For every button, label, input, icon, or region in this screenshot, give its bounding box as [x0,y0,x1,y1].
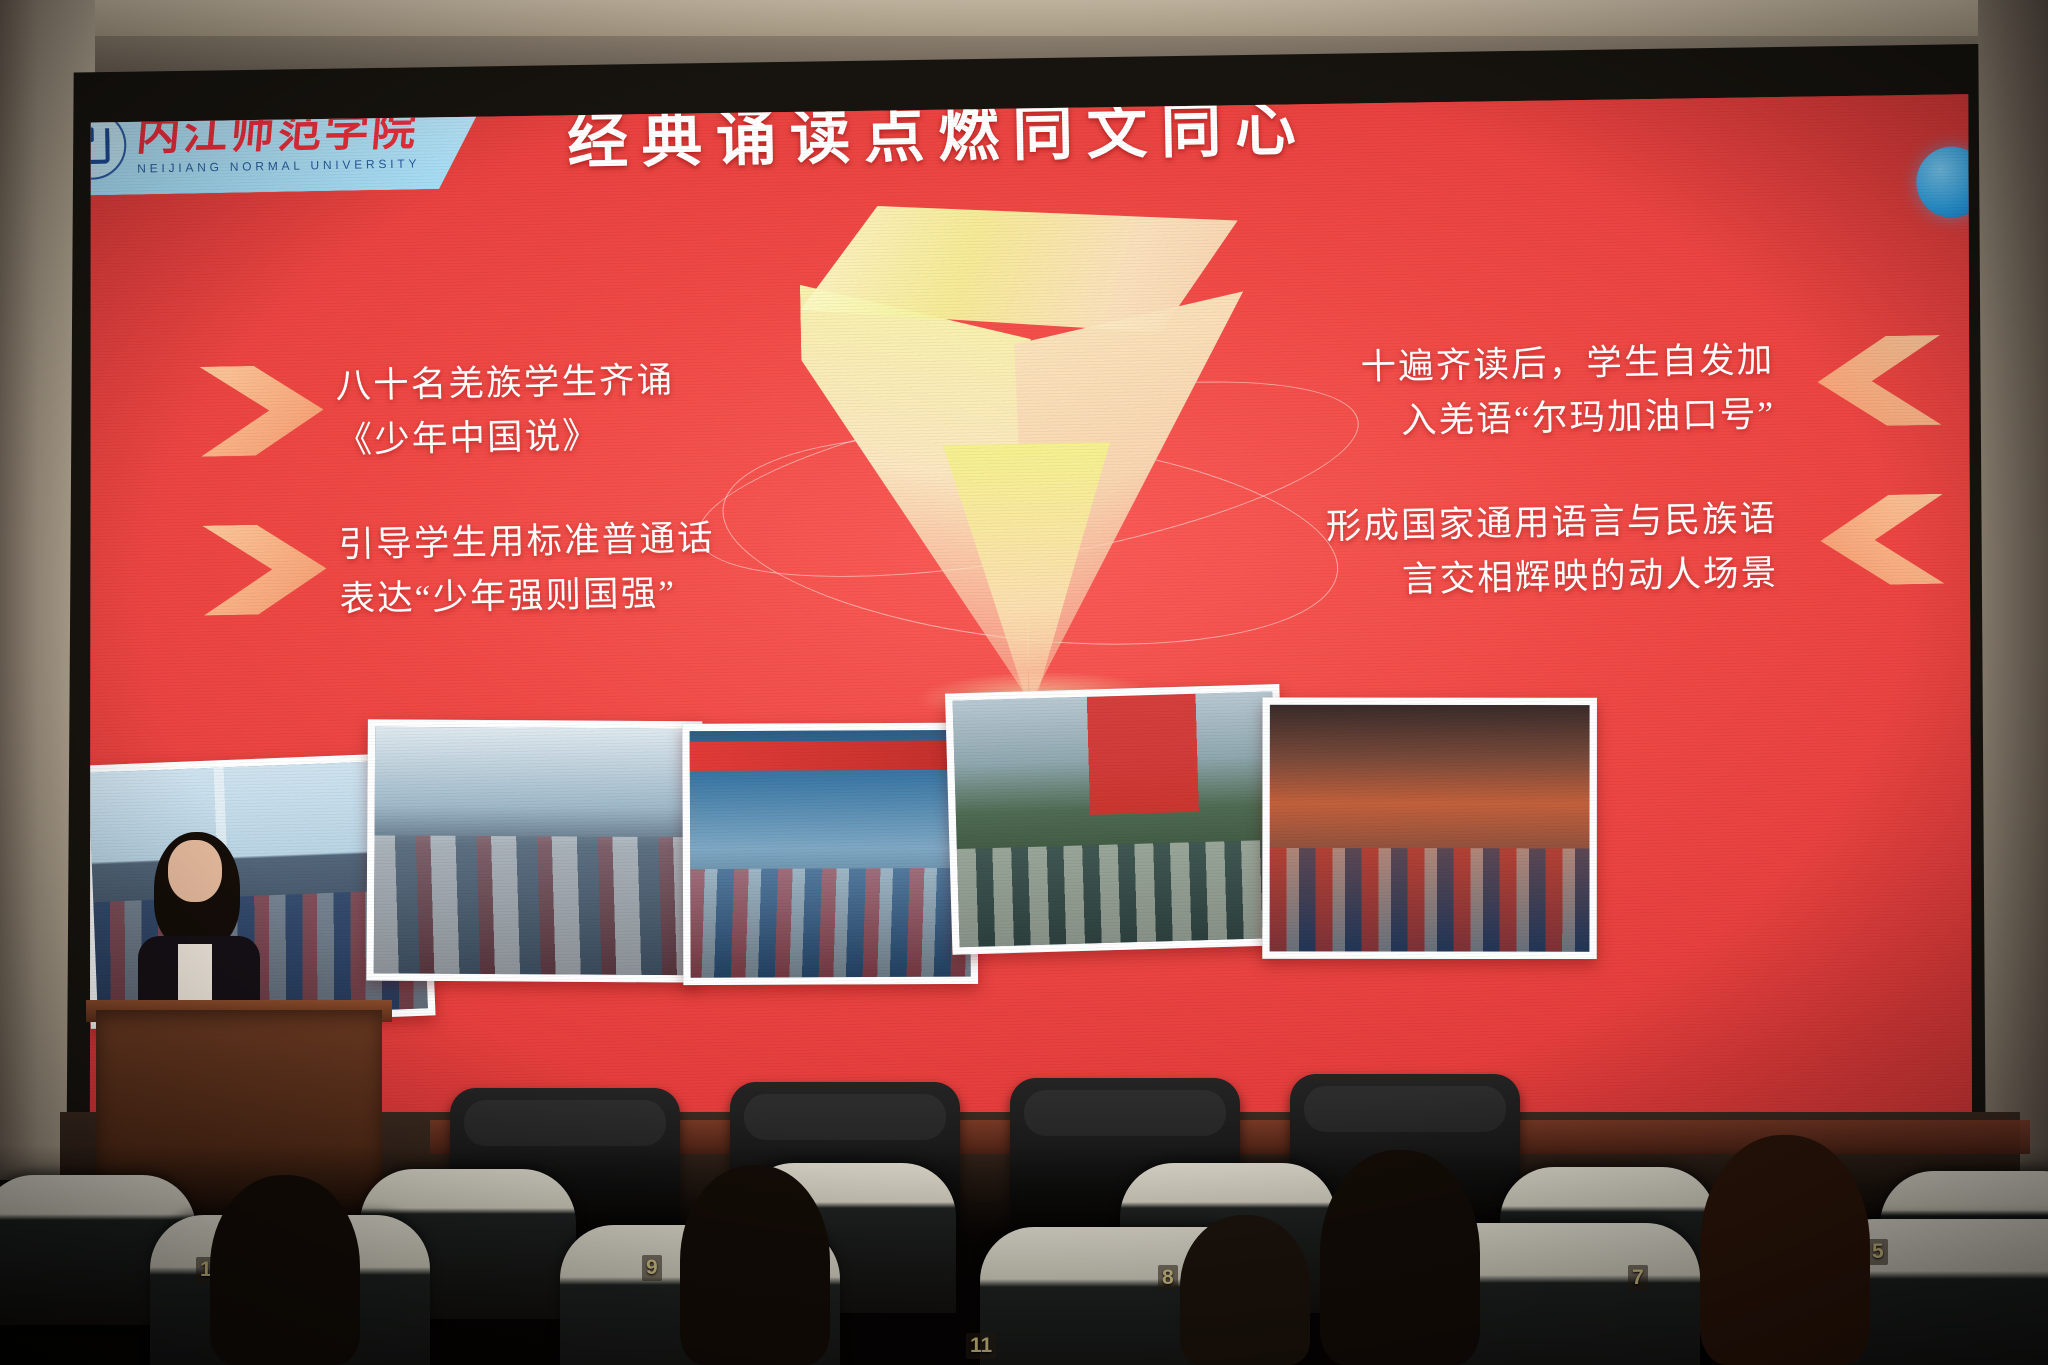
chevron-right-icon [202,523,327,615]
audience-head [210,1175,360,1365]
audience-head [1320,1150,1480,1365]
photo-detail [957,839,1279,947]
wall-right [1978,0,2048,1180]
slide-text-line: 言交相辉映的动人场景 [1326,547,1778,609]
blue-orb-icon [1916,146,1972,218]
slide-text-line: 引导学生用标准普通话 [338,512,715,573]
photo-detail [690,868,971,978]
seat-number: 5 [1868,1239,1888,1265]
slide-text-block-bottom-left: 引导学生用标准普通话 表达“少年强则国强” [338,512,716,627]
slide-text-block-top-right: 十遍齐读后，学生自发加 入羌语“尔玛加油口号” [1360,334,1776,450]
university-name-en: NEIJIANG NORMAL UNIVERSITY [137,157,420,175]
chevron-left-icon [1817,335,1942,427]
inverted-pyramid-graphic-icon [750,198,1303,730]
audience-head [1180,1215,1310,1365]
seat-number: 11 [966,1333,996,1359]
seat-number: 7 [1628,1265,1648,1291]
slide-text-block-bottom-right: 形成国家通用语言与民族语 言交相辉映的动人场景 [1325,493,1778,609]
slide-text-block-top-left: 八十名羌族学生齐诵 《少年中国说》 [335,354,676,468]
photo-detail [1270,848,1590,952]
seat-number: 9 [642,1255,662,1281]
chevron-left-icon [1820,494,1945,586]
slide-photo-strip [88,672,1972,1053]
slide-photo[interactable] [1262,697,1597,959]
slide-text-line: 八十名羌族学生齐诵 [335,354,675,414]
audience-head [1700,1135,1870,1365]
audience-head [680,1165,830,1365]
presenter-head [168,840,222,902]
photo-banner [690,740,970,770]
audience-area: 10 9 8 7 5 11 10 [0,1145,2048,1365]
slide-text-line: 入羌语“尔玛加油口号” [1361,388,1776,450]
slide-text-line: 表达“少年强则国强” [339,566,716,627]
presenter-at-podium [132,840,264,1026]
auditorium-scene: 内江师范学院 NEIJIANG NORMAL UNIVERSITY 经典诵读点燃… [0,0,2048,1365]
slide-photo[interactable] [682,723,978,986]
slide-photo[interactable] [945,684,1287,955]
slide-text-line: 十遍齐读后，学生自发加 [1360,334,1775,396]
seat-number: 8 [1158,1265,1178,1291]
photo-flag [953,692,1276,820]
slide-text-line: 《少年中国说》 [336,408,676,468]
slide-photo[interactable] [366,719,702,982]
chevron-right-icon [199,365,324,457]
photo-detail [374,835,695,975]
slide-text-line: 形成国家通用语言与民族语 [1325,493,1777,555]
